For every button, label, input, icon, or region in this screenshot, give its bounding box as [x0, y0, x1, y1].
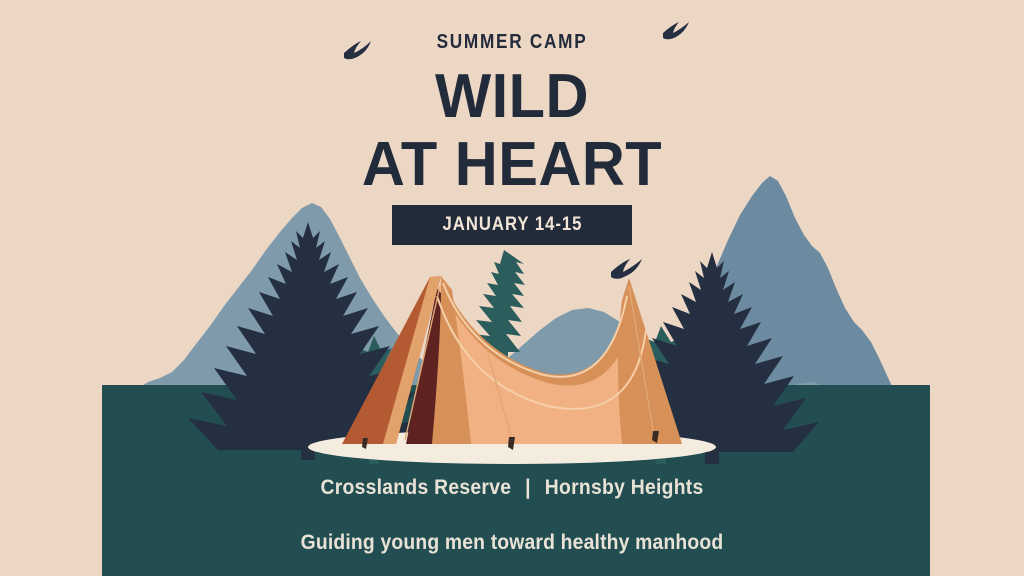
venue-line: Crosslands Reserve | Hornsby Heights	[41, 476, 983, 500]
page-title: WILD AT HEART	[0, 66, 1024, 196]
venue-separator: |	[517, 476, 539, 499]
tagline: Guiding young men toward healthy manhood	[41, 531, 983, 555]
eyebrow-label: SUMMER CAMP	[72, 31, 953, 54]
date-banner: JANUARY 14-15	[392, 205, 632, 245]
venue-secondary: Hornsby Heights	[545, 476, 704, 499]
venue-primary: Crosslands Reserve	[320, 476, 511, 499]
date-banner-label: JANUARY 14-15	[442, 214, 582, 236]
poster-canvas: SUMMER CAMP WILD AT HEART JANUARY 14-15 …	[0, 0, 1024, 576]
title-line-2: AT HEART	[20, 134, 1003, 196]
title-line-1: WILD	[20, 66, 1003, 128]
